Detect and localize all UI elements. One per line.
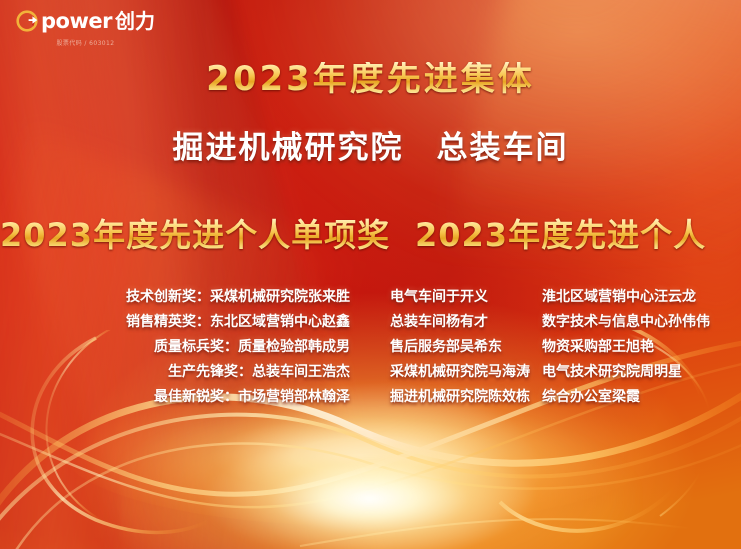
individual-entry: 淮北区域营销中心汪云龙 xyxy=(542,290,696,304)
award-columns: 技术创新奖：采煤机械研究院张来胜 销售精英奖：东北区域营销中心赵鑫 质量标兵奖：… xyxy=(0,284,741,409)
award-entry: 生产先锋奖：总装车间王浩杰 xyxy=(168,365,350,379)
c-power-circle-mark-icon xyxy=(16,10,38,32)
logo-wordmark-cn: 创力 xyxy=(115,11,155,31)
section-header-advanced-individuals: 2023年度先进个人 xyxy=(390,218,741,253)
individual-entry: 采煤机械研究院马海涛 xyxy=(390,365,542,379)
stock-code-text: 股票代码 / 603012 xyxy=(16,38,155,47)
individual-entry: 售后服务部吴希东 xyxy=(390,340,542,354)
individual-entry: 数字技术与信息中心孙伟伟 xyxy=(542,315,710,329)
logo-wordmark: power xyxy=(41,11,112,32)
list-item: 生产先锋奖：总装车间王浩杰 xyxy=(0,359,378,384)
list-item: 采煤机械研究院马海涛 电气技术研究院周明星 xyxy=(378,359,741,384)
list-item: 质量标兵奖：质量检验部韩成男 xyxy=(0,334,378,359)
list-item: 掘进机械研究院陈效栋 综合办公室梁霞 xyxy=(378,384,741,409)
individual-entry: 总装车间杨有才 xyxy=(390,315,542,329)
individual-entry: 掘进机械研究院陈效栋 xyxy=(390,390,542,404)
advanced-individual-list: 电气车间于开义 淮北区域营销中心汪云龙 总装车间杨有才 数字技术与信息中心孙伟伟… xyxy=(378,284,741,409)
individual-entry: 综合办公室梁霞 xyxy=(542,390,640,404)
list-item: 总装车间杨有才 数字技术与信息中心孙伟伟 xyxy=(378,309,741,334)
page-title: 2023年度先进集体 xyxy=(0,62,741,96)
individual-entry: 物资采购部王旭艳 xyxy=(542,340,654,354)
award-entry: 技术创新奖：采煤机械研究院张来胜 xyxy=(126,290,350,304)
individual-entry: 电气技术研究院周明星 xyxy=(542,365,682,379)
award-entry: 质量标兵奖：质量检验部韩成男 xyxy=(154,340,350,354)
section-header-single-awards: 2023年度先进个人单项奖 xyxy=(0,218,390,253)
section-headers: 2023年度先进个人单项奖 2023年度先进个人 xyxy=(0,218,741,253)
page-subtitle: 掘进机械研究院 总装车间 xyxy=(0,133,741,164)
list-item: 售后服务部吴希东 物资采购部王旭艳 xyxy=(378,334,741,359)
award-entry: 最佳新锐奖：市场营销部林翰泽 xyxy=(154,390,350,404)
single-award-list: 技术创新奖：采煤机械研究院张来胜 销售精英奖：东北区域营销中心赵鑫 质量标兵奖：… xyxy=(0,284,378,409)
award-entry: 销售精英奖：东北区域营销中心赵鑫 xyxy=(126,315,350,329)
list-item: 技术创新奖：采煤机械研究院张来胜 xyxy=(0,284,378,309)
award-banner-poster: power 创力 股票代码 / 603012 2023年度先进集体 掘进机械研究… xyxy=(0,0,741,549)
list-item: 最佳新锐奖：市场营销部林翰泽 xyxy=(0,384,378,409)
list-item: 销售精英奖：东北区域营销中心赵鑫 xyxy=(0,309,378,334)
individual-entry: 电气车间于开义 xyxy=(390,290,542,304)
list-item: 电气车间于开义 淮北区域营销中心汪云龙 xyxy=(378,284,741,309)
center-glow xyxy=(120,400,640,549)
company-logo: power 创力 股票代码 / 603012 xyxy=(16,10,155,47)
